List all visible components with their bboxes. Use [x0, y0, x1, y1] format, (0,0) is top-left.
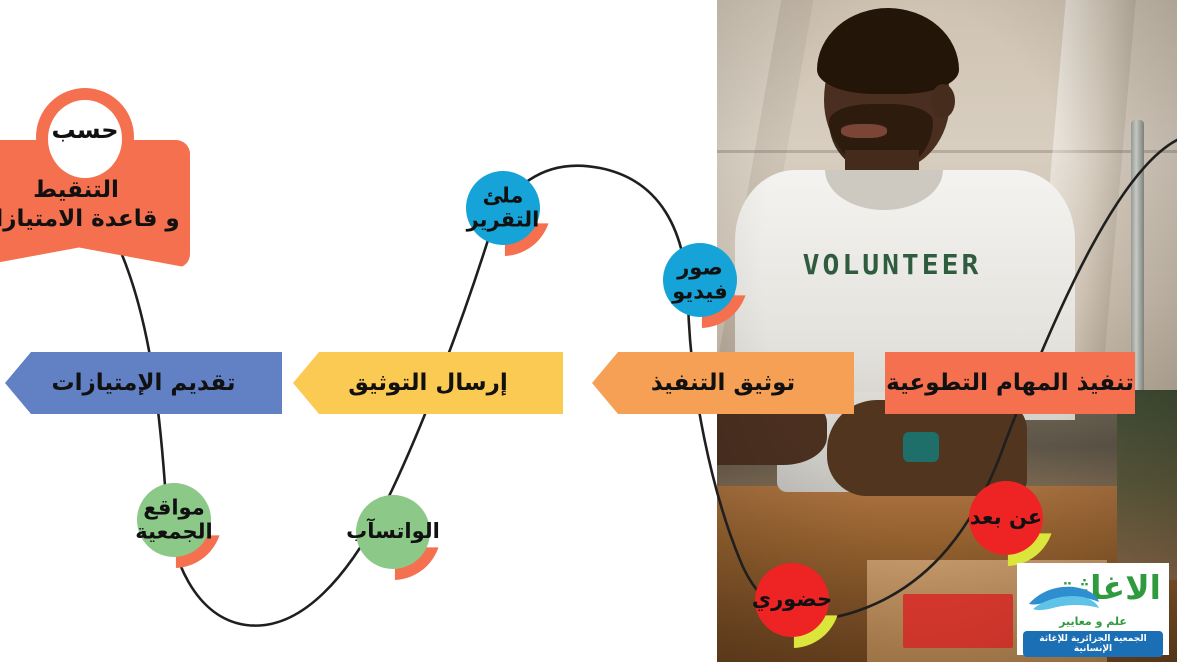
badge-onsite-dot: [755, 563, 829, 637]
hand-icon: [1027, 582, 1101, 612]
logo-subtitle-bar: الجمعية الجزائرية للإغاثة الإنسانية: [1023, 631, 1163, 657]
badge-scoring-lines: التنقيط و قاعدة الامتيازات: [0, 176, 192, 235]
logo-main: الاغاثة: [1023, 568, 1163, 614]
badge-sites[interactable]: مواقعالجمعية: [126, 472, 222, 568]
badge-report[interactable]: ملئالتقرير: [455, 160, 551, 256]
logo-tagline: علم و معايير: [1023, 615, 1163, 628]
process-step-1[interactable]: تنفيذ المهام التطوعية: [885, 352, 1135, 414]
badge-remote-dot: [969, 481, 1043, 555]
process-step-4[interactable]: تقديم الإمتيازات: [5, 352, 282, 414]
badge-scoring-top-word: حسب: [36, 116, 134, 144]
badge-whatsapp[interactable]: الواتسآب: [345, 484, 441, 580]
process-step-2[interactable]: توثيق التنفيذ: [592, 352, 854, 414]
badge-scoring-line2: و قاعدة الامتيازات: [0, 205, 192, 234]
badge-photovideo[interactable]: صورفيديو: [652, 232, 748, 328]
process-step-3[interactable]: إرسال التوثيق: [293, 352, 563, 414]
organization-logo: الاغاثة علم و معايير الجمعية الجزائرية ل…: [1017, 563, 1169, 655]
badge-sites-dot: [137, 483, 211, 557]
infographic-canvas: VOLUNTEER تنفيذ المهام التطوعية توثيق ال…: [0, 0, 1177, 662]
badge-onsite[interactable]: حضوري: [744, 552, 840, 648]
badge-scoring-line1: التنقيط: [0, 176, 192, 205]
badge-whatsapp-dot: [356, 495, 430, 569]
badge-remote[interactable]: عن بعد: [958, 470, 1054, 566]
badge-photovideo-dot: [663, 243, 737, 317]
badge-report-dot: [466, 171, 540, 245]
